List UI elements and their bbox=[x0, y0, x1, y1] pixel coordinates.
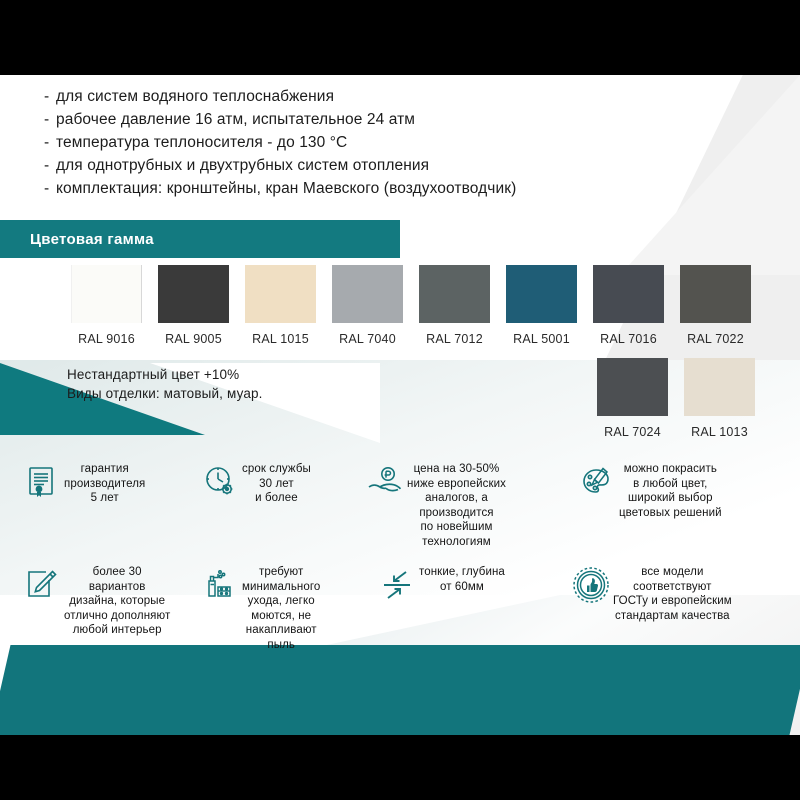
feature-warranty-text: гарантия производителя 5 лет bbox=[64, 460, 145, 506]
swatch-chip bbox=[593, 265, 664, 323]
swatch-label: RAL 7040 bbox=[339, 332, 396, 346]
swatch-label: RAL 7024 bbox=[604, 425, 661, 439]
feature-line: производителя bbox=[64, 477, 145, 492]
swatch-cell[interactable]: RAL 7012 bbox=[411, 265, 498, 346]
feature-line: от 60мм bbox=[419, 580, 505, 595]
feature-price: цена на 30-50% ниже европейских аналогов… bbox=[355, 460, 565, 549]
spec-item: - для однотрубных и двухтрубных систем о… bbox=[44, 155, 684, 176]
feature-line: накапливают bbox=[242, 623, 320, 638]
feature-service-life: срок службы 30 лет и более bbox=[190, 460, 355, 549]
spec-item: - комплектация: кронштейны, кран Маевско… bbox=[44, 178, 684, 199]
quality-thumbs-up-icon bbox=[569, 563, 613, 607]
spec-item: - для систем водяного теплоснабжения bbox=[44, 86, 684, 107]
feature-line: срок службы bbox=[242, 462, 311, 477]
swatch-chip bbox=[245, 265, 316, 323]
swatch-row-primary: RAL 9016 RAL 9005 RAL 1015 RAL 7040 RAL … bbox=[63, 265, 759, 346]
swatch-chip bbox=[158, 265, 229, 323]
feature-line: по новейшим bbox=[407, 520, 506, 535]
feature-line: 5 лет bbox=[64, 491, 145, 506]
feature-line: цена на 30-50% bbox=[407, 462, 506, 477]
slide-canvas: - для систем водяного теплоснабжения - р… bbox=[0, 75, 800, 735]
feature-line: ниже европейских bbox=[407, 477, 506, 492]
feature-paint-text: можно покрасить в любой цвет, широкий вы… bbox=[619, 460, 722, 520]
swatch-chip bbox=[506, 265, 577, 323]
swatch-chip bbox=[71, 265, 142, 323]
swatch-cell[interactable]: RAL 9005 bbox=[150, 265, 237, 346]
note-line: Нестандартный цвет +10% bbox=[67, 365, 263, 384]
feature-line: более 30 bbox=[64, 565, 170, 580]
color-notes: Нестандартный цвет +10% Виды отделки: ма… bbox=[67, 365, 263, 403]
pencil-design-icon bbox=[20, 563, 64, 607]
feature-line: технологиям bbox=[407, 535, 506, 550]
feature-line: стандартам качества bbox=[613, 609, 732, 624]
swatch-label: RAL 7012 bbox=[426, 332, 483, 346]
swatch-label: RAL 5001 bbox=[513, 332, 570, 346]
feature-quality-standards: все модели соответствуют ГОСТу и европей… bbox=[565, 563, 780, 652]
swatch-chip bbox=[680, 265, 751, 323]
swatch-label: RAL 7016 bbox=[600, 332, 657, 346]
feature-depth: тонкие, глубина от 60мм bbox=[355, 563, 565, 652]
feature-line: пыль bbox=[242, 638, 320, 653]
feature-price-text: цена на 30-50% ниже европейских аналогов… bbox=[407, 460, 506, 549]
feature-quality-standards-text: все модели соответствуют ГОСТу и европей… bbox=[613, 563, 732, 623]
swatch-label: RAL 1013 bbox=[691, 425, 748, 439]
bullet-dash: - bbox=[44, 178, 56, 199]
feature-line: все модели bbox=[613, 565, 732, 580]
note-line: Виды отделки: матовый, муар. bbox=[67, 384, 263, 403]
swatch-label: RAL 9016 bbox=[78, 332, 135, 346]
swatch-cell[interactable]: RAL 7022 bbox=[672, 265, 759, 346]
feature-line: 30 лет bbox=[242, 477, 311, 492]
feature-line: в любой цвет, bbox=[619, 477, 722, 492]
specification-list: - для систем водяного теплоснабжения - р… bbox=[44, 86, 684, 201]
feature-line: требуют bbox=[242, 565, 320, 580]
bullet-dash: - bbox=[44, 109, 56, 130]
feature-line: производится bbox=[407, 506, 506, 521]
swatch-cell[interactable]: RAL 1015 bbox=[237, 265, 324, 346]
swatch-cell[interactable]: RAL 5001 bbox=[498, 265, 585, 346]
swatch-cell[interactable]: RAL 9016 bbox=[63, 265, 150, 346]
spec-item-label: комплектация: кронштейны, кран Маевского… bbox=[56, 178, 516, 199]
slide-root: - для систем водяного теплоснабжения - р… bbox=[0, 0, 800, 800]
certificate-icon bbox=[20, 460, 64, 504]
feature-line: вариантов bbox=[64, 580, 170, 595]
bullet-dash: - bbox=[44, 132, 56, 153]
feature-warranty: гарантия производителя 5 лет bbox=[0, 460, 190, 549]
depth-arrows-icon bbox=[375, 563, 419, 607]
swatch-chip bbox=[684, 358, 755, 416]
bullet-dash: - bbox=[44, 155, 56, 176]
feature-line: аналогов, а bbox=[407, 491, 506, 506]
feature-maintenance-text: требуют минимального ухода, легко моются… bbox=[242, 563, 320, 652]
bullet-dash: - bbox=[44, 86, 56, 107]
feature-service-life-text: срок службы 30 лет и более bbox=[242, 460, 311, 506]
spec-item-label: рабочее давление 16 атм, испытательное 2… bbox=[56, 109, 415, 130]
spec-item-label: для систем водяного теплоснабжения bbox=[56, 86, 334, 107]
swatch-chip bbox=[597, 358, 668, 416]
palette-brush-icon bbox=[575, 460, 619, 504]
feature-design-variants: более 30 вариантов дизайна, которые отли… bbox=[0, 563, 190, 652]
swatch-row-secondary: RAL 7024 RAL 1013 bbox=[589, 358, 763, 439]
hand-ruble-icon bbox=[363, 460, 407, 504]
feature-line: дизайна, которые bbox=[64, 594, 170, 609]
feature-line: гарантия bbox=[64, 462, 145, 477]
feature-line: цветовых решений bbox=[619, 506, 722, 521]
section-title: Цветовая гамма bbox=[30, 231, 154, 248]
feature-maintenance: требуют минимального ухода, легко моются… bbox=[190, 563, 355, 652]
spec-item: - рабочее давление 16 атм, испытательное… bbox=[44, 109, 684, 130]
swatch-chip bbox=[332, 265, 403, 323]
swatch-cell[interactable]: RAL 7016 bbox=[585, 265, 672, 346]
features-row-1: гарантия производителя 5 лет bbox=[0, 460, 800, 549]
feature-line: любой интерьер bbox=[64, 623, 170, 638]
feature-line: соответствуют bbox=[613, 580, 732, 595]
feature-line: ГОСТу и европейским bbox=[613, 594, 732, 609]
spec-item: - температура теплоносителя - до 130 °C bbox=[44, 132, 684, 153]
clock-gear-icon bbox=[198, 460, 242, 504]
swatch-label: RAL 1015 bbox=[252, 332, 309, 346]
color-gamma-header: Цветовая гамма bbox=[0, 220, 400, 258]
feature-line: отлично дополняют bbox=[64, 609, 170, 624]
feature-line: широкий выбор bbox=[619, 491, 722, 506]
decorative-teal-band-bottom bbox=[0, 645, 800, 735]
feature-depth-text: тонкие, глубина от 60мм bbox=[419, 563, 505, 594]
feature-paint: можно покрасить в любой цвет, широкий вы… bbox=[565, 460, 780, 549]
swatch-cell[interactable]: RAL 7024 bbox=[589, 358, 676, 439]
features-row-2: более 30 вариантов дизайна, которые отли… bbox=[0, 563, 800, 652]
swatch-cell[interactable]: RAL 1013 bbox=[676, 358, 763, 439]
feature-line: минимального bbox=[242, 580, 320, 595]
swatch-label: RAL 9005 bbox=[165, 332, 222, 346]
swatch-cell[interactable]: RAL 7040 bbox=[324, 265, 411, 346]
feature-design-variants-text: более 30 вариантов дизайна, которые отли… bbox=[64, 563, 170, 638]
feature-line: и более bbox=[242, 491, 311, 506]
features-section: гарантия производителя 5 лет bbox=[0, 460, 800, 652]
feature-line: моются, не bbox=[242, 609, 320, 624]
feature-line: можно покрасить bbox=[619, 462, 722, 477]
spray-sponge-icon bbox=[198, 563, 242, 607]
spec-item-label: для однотрубных и двухтрубных систем ото… bbox=[56, 155, 429, 176]
swatch-label: RAL 7022 bbox=[687, 332, 744, 346]
feature-line: ухода, легко bbox=[242, 594, 320, 609]
feature-line: тонкие, глубина bbox=[419, 565, 505, 580]
spec-item-label: температура теплоносителя - до 130 °C bbox=[56, 132, 347, 153]
swatch-chip bbox=[419, 265, 490, 323]
